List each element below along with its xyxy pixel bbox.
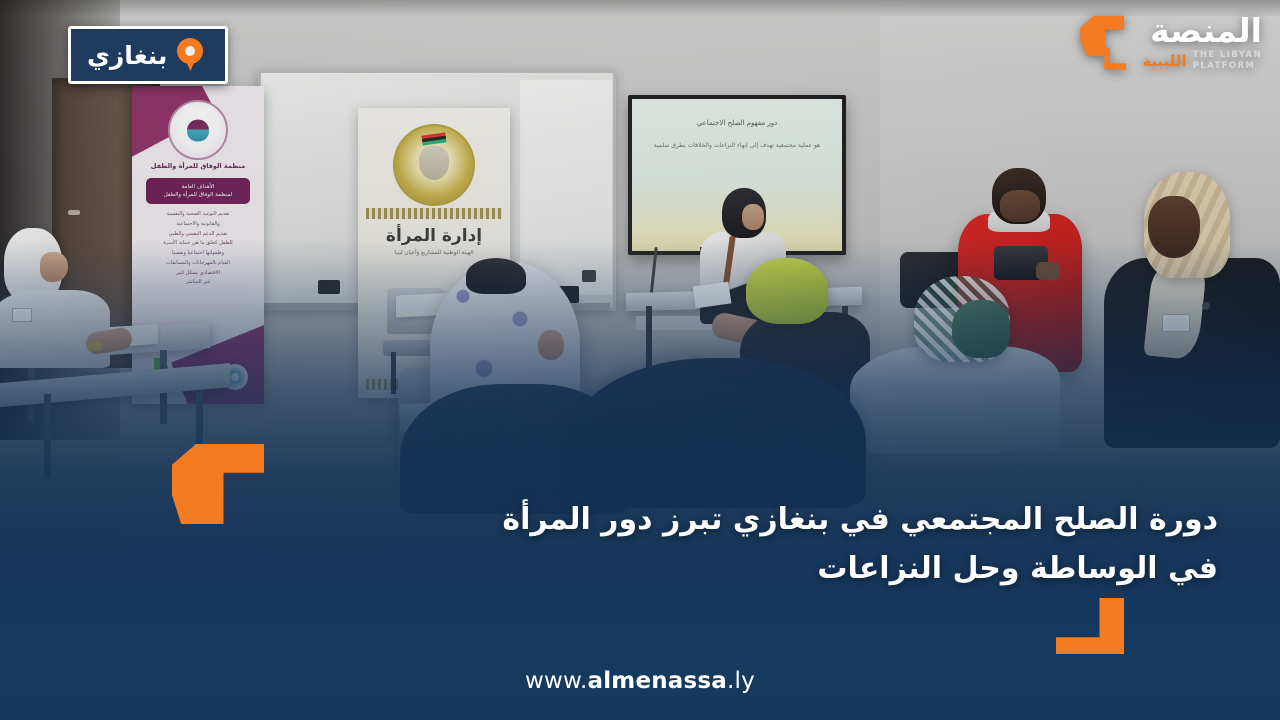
- person-left-face: [40, 252, 68, 282]
- brand-logomark-icon: [1078, 14, 1136, 72]
- participant-floral-cap: [466, 258, 526, 294]
- slide-body: هو عملية مجتمعية تهدف إلى إنهاء النزاعات…: [644, 141, 830, 151]
- banner-objective-item: القيام بالمهرجانات والمسابقات: [142, 259, 254, 269]
- brand-name-english-line2: PLATFORM: [1193, 61, 1256, 71]
- website-url[interactable]: www.almenassa.ly: [0, 668, 1280, 694]
- banner-objective-item: الاقتصادي بشكل كبير: [142, 269, 254, 279]
- banner-objective-item: غير المباشر: [142, 278, 254, 288]
- news-card-canvas: منظمة الوفاق للمرأة والطفل الأهداف العام…: [0, 0, 1280, 720]
- table-leg: [44, 394, 51, 478]
- url-prefix: www.: [525, 668, 587, 694]
- wall-fixture: [582, 270, 596, 282]
- brand-logo[interactable]: المنصة THE LIBYAN PLATFORM الليبية: [1078, 14, 1262, 72]
- cameraman-face: [1000, 190, 1040, 222]
- speaker-face: [1148, 196, 1200, 258]
- table-leg: [646, 306, 652, 370]
- banner-pill-line1: الأهداف العامة: [182, 183, 215, 191]
- participant-floral-hand: [538, 330, 564, 360]
- cameraman-hand: [1036, 262, 1060, 280]
- banner-objective-item: تقديم التوعية الصحية والنفسية: [142, 210, 254, 220]
- speaker-lapel-pin: [1202, 302, 1210, 310]
- logomark-bracket-large: [1080, 16, 1124, 56]
- banner-org-title: منظمة الوفاق للمرأة والطفل: [138, 162, 258, 170]
- brand-name-arabic-sub: الليبية: [1142, 54, 1186, 69]
- map-pin-icon: [177, 38, 203, 72]
- door-handle: [68, 210, 80, 215]
- speaker-name-badge: [1162, 314, 1190, 332]
- url-brand: almenassa: [587, 668, 727, 694]
- wall-socket-small: [318, 280, 340, 294]
- banner-objective-item: تقديم الدعم النفسي والطبي: [142, 230, 254, 240]
- participant-green-hijab: [746, 258, 828, 324]
- banner-objective-item: للطفل كخلق ما هي حماية الأسرة: [142, 239, 254, 249]
- banner-objectives-list: تقديم التوعية الصحية والنفسيةوالقانونية …: [142, 210, 254, 288]
- brand-name-english-line1: THE LIBYAN: [1193, 50, 1262, 60]
- organization-emblem-icon: [168, 100, 228, 160]
- headline-text: دورة الصلح المجتمعي في بنغازي تبرز دور ا…: [458, 496, 1218, 593]
- slide-title: دور مفهوم الصلح الاجتماعي: [632, 119, 842, 127]
- brand-logo-text: المنصة THE LIBYAN PLATFORM الليبية: [1142, 14, 1262, 71]
- location-badge[interactable]: بنغازي: [68, 26, 228, 84]
- chair-leg: [391, 352, 396, 394]
- event-photo: منظمة الوفاق للمرأة والطفل الأهداف العام…: [0, 0, 1280, 720]
- url-suffix: .ly: [727, 668, 755, 694]
- banner-womens-organization: منظمة الوفاق للمرأة والطفل الأهداف العام…: [132, 86, 264, 404]
- logomark-bracket-small: [1104, 48, 1126, 70]
- banner-objective-item: والقانونية والاجتماعية: [142, 220, 254, 230]
- person-left-body: [0, 290, 110, 368]
- banner-gold-subtitle: الهيئة الوطنية للمشاريع وأعيان ليبيا: [366, 250, 502, 256]
- brand-name-english: THE LIBYAN PLATFORM: [1193, 50, 1262, 71]
- location-label: بنغازي: [87, 43, 167, 68]
- brand-subtitle-row: THE LIBYAN PLATFORM الليبية: [1142, 50, 1262, 71]
- whiteboard-panel-right: [520, 80, 612, 295]
- participant-pattern-scarf-green: [952, 300, 1010, 358]
- banner-objectives-pill: الأهداف العامة لمنظمة الوفاق للمرأة والط…: [146, 178, 250, 204]
- banner-gold-title: إدارة المرأة: [358, 226, 510, 246]
- person-left-name-badge: [12, 308, 32, 322]
- banner-objective-item: وطفولتها اجتماعيا ونفسيا: [142, 249, 254, 259]
- brand-name-arabic: المنصة: [1142, 14, 1262, 47]
- participant-pattern-body: [850, 346, 1060, 454]
- banner-ornament-top: [366, 208, 502, 219]
- presenter-face: [742, 204, 764, 230]
- banner-pill-line2: لمنظمة الوفاق للمرأة والطفل: [164, 191, 232, 199]
